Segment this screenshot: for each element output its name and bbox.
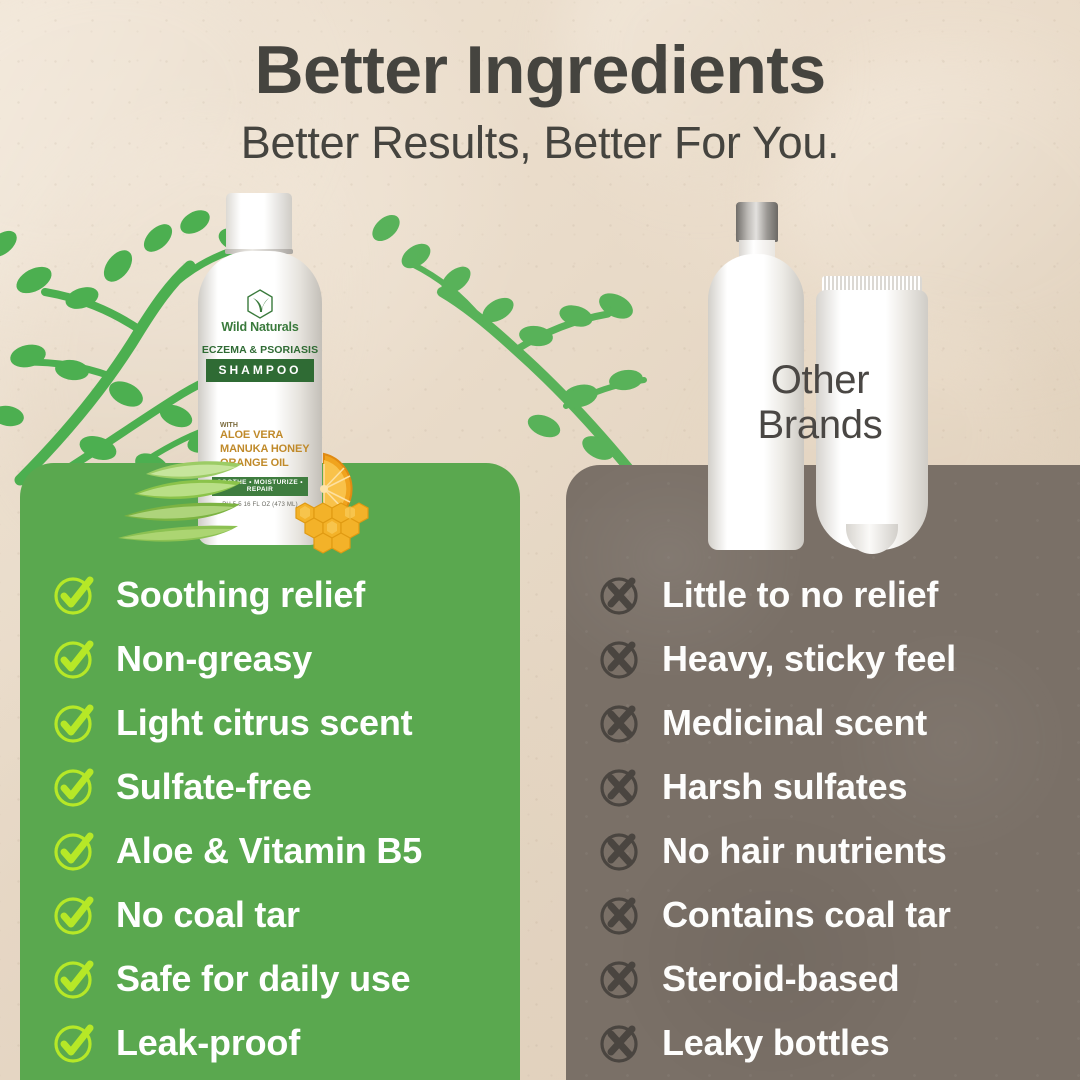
list-item: Leaky bottles [598,1011,1068,1075]
page-subtitle: Better Results, Better For You. [0,119,1080,166]
list-item-label: Medicinal scent [662,705,927,741]
list-item-label: Heavy, sticky feel [662,641,956,677]
list-item-label: Safe for daily use [116,961,411,997]
list-item: Harsh sulfates [598,755,1068,819]
competitor-label: Other Brands [700,358,940,448]
good-feature-list: Soothing relief Non-greasy Light citrus … [52,563,522,1075]
brand-name: Wild Naturals [198,321,322,334]
x-circle-icon [598,701,642,745]
list-item: Soothing relief [52,563,522,627]
list-item: Steroid-based [598,947,1068,1011]
honeycomb-icon [286,492,384,554]
list-item-label: No hair nutrients [662,833,947,869]
x-circle-icon [598,765,642,809]
comparison-infographic: Better Ingredients Better Results, Bette… [0,0,1080,1080]
check-circle-icon [52,829,96,873]
list-item-label: Leaky bottles [662,1025,889,1061]
list-item: Contains coal tar [598,883,1068,947]
x-circle-icon [598,957,642,1001]
list-item-label: No coal tar [116,897,300,933]
list-item: Heavy, sticky feel [598,627,1068,691]
competitor-label-line-1: Other [771,358,870,402]
list-item-label: Non-greasy [116,641,312,677]
product-with-label: WITH [198,422,322,429]
x-circle-icon [598,637,642,681]
list-item-label: Steroid-based [662,961,899,997]
product-condition: ECZEMA & PSORIASIS [198,345,322,356]
list-item: No coal tar [52,883,522,947]
competitor-bottle-cap [736,202,778,242]
x-circle-icon [598,829,642,873]
x-circle-icon [598,1021,642,1065]
header-block: Better Ingredients Better Results, Bette… [0,36,1080,167]
check-circle-icon [52,701,96,745]
check-circle-icon [52,1021,96,1065]
brand-hexagon-leaf-icon [246,289,274,319]
list-item-label: Contains coal tar [662,897,951,933]
check-circle-icon [52,765,96,809]
check-circle-icon [52,957,96,1001]
list-item-label: Sulfate-free [116,769,312,805]
competitor-tube-cap [846,524,898,554]
x-circle-icon [598,893,642,937]
check-circle-icon [52,637,96,681]
list-item-label: Soothing relief [116,577,365,613]
bottle-cap [226,193,292,251]
list-item: Little to no relief [598,563,1068,627]
list-item-label: Light citrus scent [116,705,412,741]
list-item: Medicinal scent [598,691,1068,755]
list-item-label: Leak-proof [116,1025,300,1061]
list-item: Light citrus scent [52,691,522,755]
list-item: No hair nutrients [598,819,1068,883]
page-title: Better Ingredients [0,36,1080,105]
check-circle-icon [52,573,96,617]
list-item: Sulfate-free [52,755,522,819]
list-item-label: Aloe & Vitamin B5 [116,833,422,869]
bad-feature-list: Little to no relief Heavy, sticky feel M… [598,563,1068,1075]
list-item: Non-greasy [52,627,522,691]
list-item-label: Harsh sulfates [662,769,907,805]
list-item: Leak-proof [52,1011,522,1075]
check-circle-icon [52,893,96,937]
competitor-label-line-2: Brands [758,403,883,447]
x-circle-icon [598,573,642,617]
list-item: Aloe & Vitamin B5 [52,819,522,883]
list-item-label: Little to no relief [662,577,938,613]
competitor-products: Other Brands [700,196,940,552]
product-ingredient-0: ALOE VERA [198,429,322,443]
aloe-vera-icon [112,452,244,548]
product-type: SHAMPOO [206,359,314,382]
list-item: Safe for daily use [52,947,522,1011]
